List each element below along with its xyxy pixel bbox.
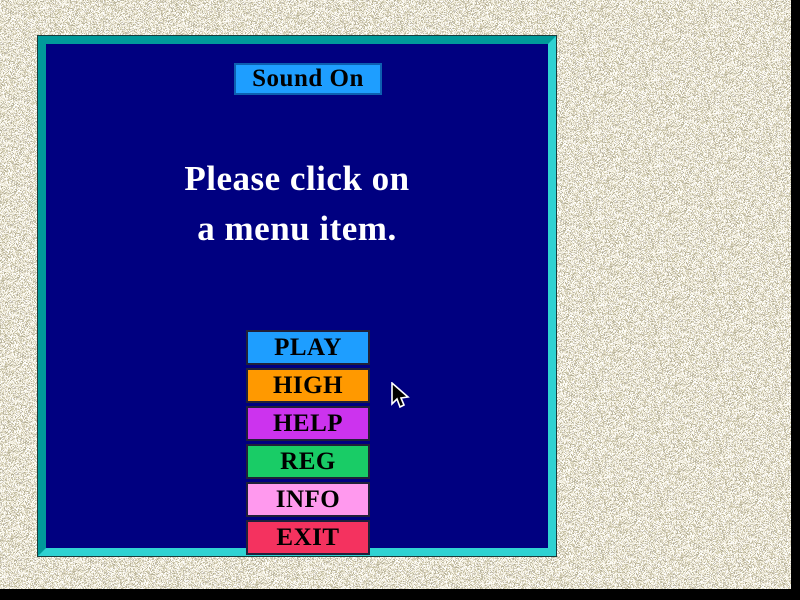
menu-button-high[interactable]: HIGH [246,368,370,403]
frame-right-band [791,0,800,600]
mouse-arrow-cursor [391,382,411,412]
game-panel-inner: Sound On Please click on a menu item. PL… [46,44,548,548]
frame-bottom-band [0,589,800,600]
main-menu: PLAYHIGHHELPREGINFOEXIT [246,330,370,555]
menu-button-info[interactable]: INFO [246,482,370,517]
menu-button-reg[interactable]: REG [246,444,370,479]
game-panel: Sound On Please click on a menu item. PL… [38,36,556,556]
prompt-message: Please click on a menu item. [46,154,548,254]
sound-toggle-button[interactable]: Sound On [234,63,382,95]
menu-button-play[interactable]: PLAY [246,330,370,365]
prompt-line-2: a menu item. [46,204,548,254]
menu-button-exit[interactable]: EXIT [246,520,370,555]
menu-button-help[interactable]: HELP [246,406,370,441]
prompt-line-1: Please click on [46,154,548,204]
screen: Sound On Please click on a menu item. PL… [0,0,800,600]
